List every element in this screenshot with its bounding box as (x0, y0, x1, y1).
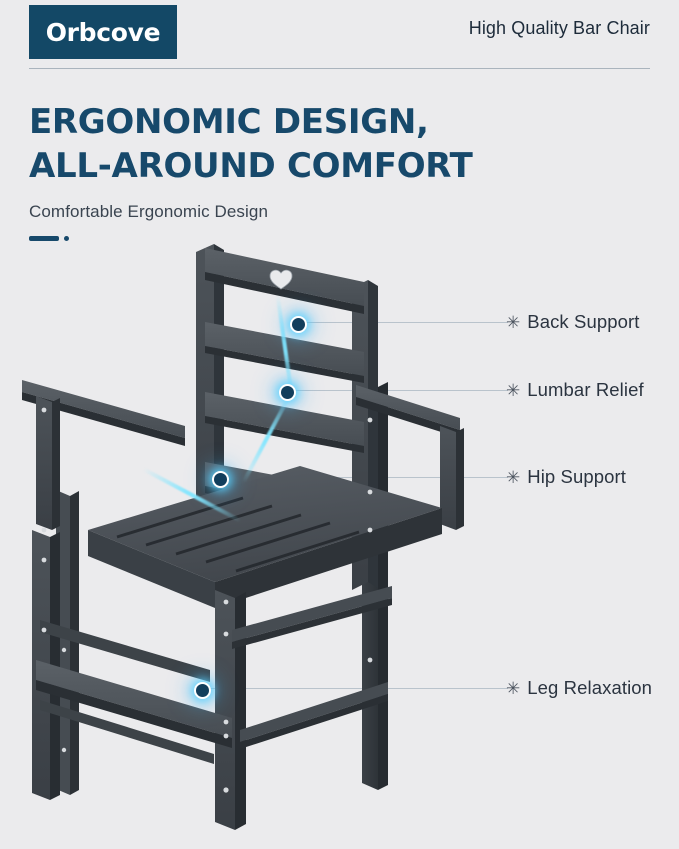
asterisk-icon: ✳ (506, 469, 520, 486)
callout-leg-relaxation[interactable]: ✳ Leg Relaxation (506, 677, 652, 699)
hotspot-hip-support[interactable] (212, 471, 229, 488)
callout-label-back-support: Back Support (527, 311, 639, 333)
page-header: Orbcove High Quality Bar Chair (0, 0, 679, 78)
brand-logo: Orbcove (29, 5, 177, 59)
chair-footrest (36, 586, 392, 764)
callout-hip-support[interactable]: ✳ Hip Support (506, 466, 626, 488)
header-divider (29, 68, 650, 69)
callout-label-hip-support: Hip Support (527, 466, 626, 488)
callout-label-leg-relaxation: Leg Relaxation (527, 677, 652, 699)
subtitle: Comfortable Ergonomic Design (29, 202, 529, 222)
hotspot-leg-relaxation[interactable] (194, 682, 211, 699)
bar-chair-illustration (0, 230, 500, 830)
chair-seat (88, 466, 442, 608)
chair-left-armrest (22, 380, 185, 530)
asterisk-icon: ✳ (506, 382, 520, 399)
callout-label-lumbar-relief: Lumbar Relief (527, 379, 643, 401)
headline-line-2: ALL-AROUND COMFORT (29, 144, 529, 188)
brand-logo-text: Orbcove (46, 18, 161, 47)
asterisk-icon: ✳ (506, 680, 520, 697)
callout-lumbar-relief[interactable]: ✳ Lumbar Relief (506, 379, 644, 401)
callout-back-support[interactable]: ✳ Back Support (506, 311, 640, 333)
hotspot-back-support[interactable] (290, 316, 307, 333)
headline-line-1: ERGONOMIC DESIGN, (29, 100, 529, 144)
title-block: ERGONOMIC DESIGN, ALL-AROUND COMFORT Com… (29, 100, 529, 241)
header-tagline: High Quality Bar Chair (469, 18, 650, 39)
hotspot-lumbar-relief[interactable] (279, 384, 296, 401)
asterisk-icon: ✳ (506, 314, 520, 331)
